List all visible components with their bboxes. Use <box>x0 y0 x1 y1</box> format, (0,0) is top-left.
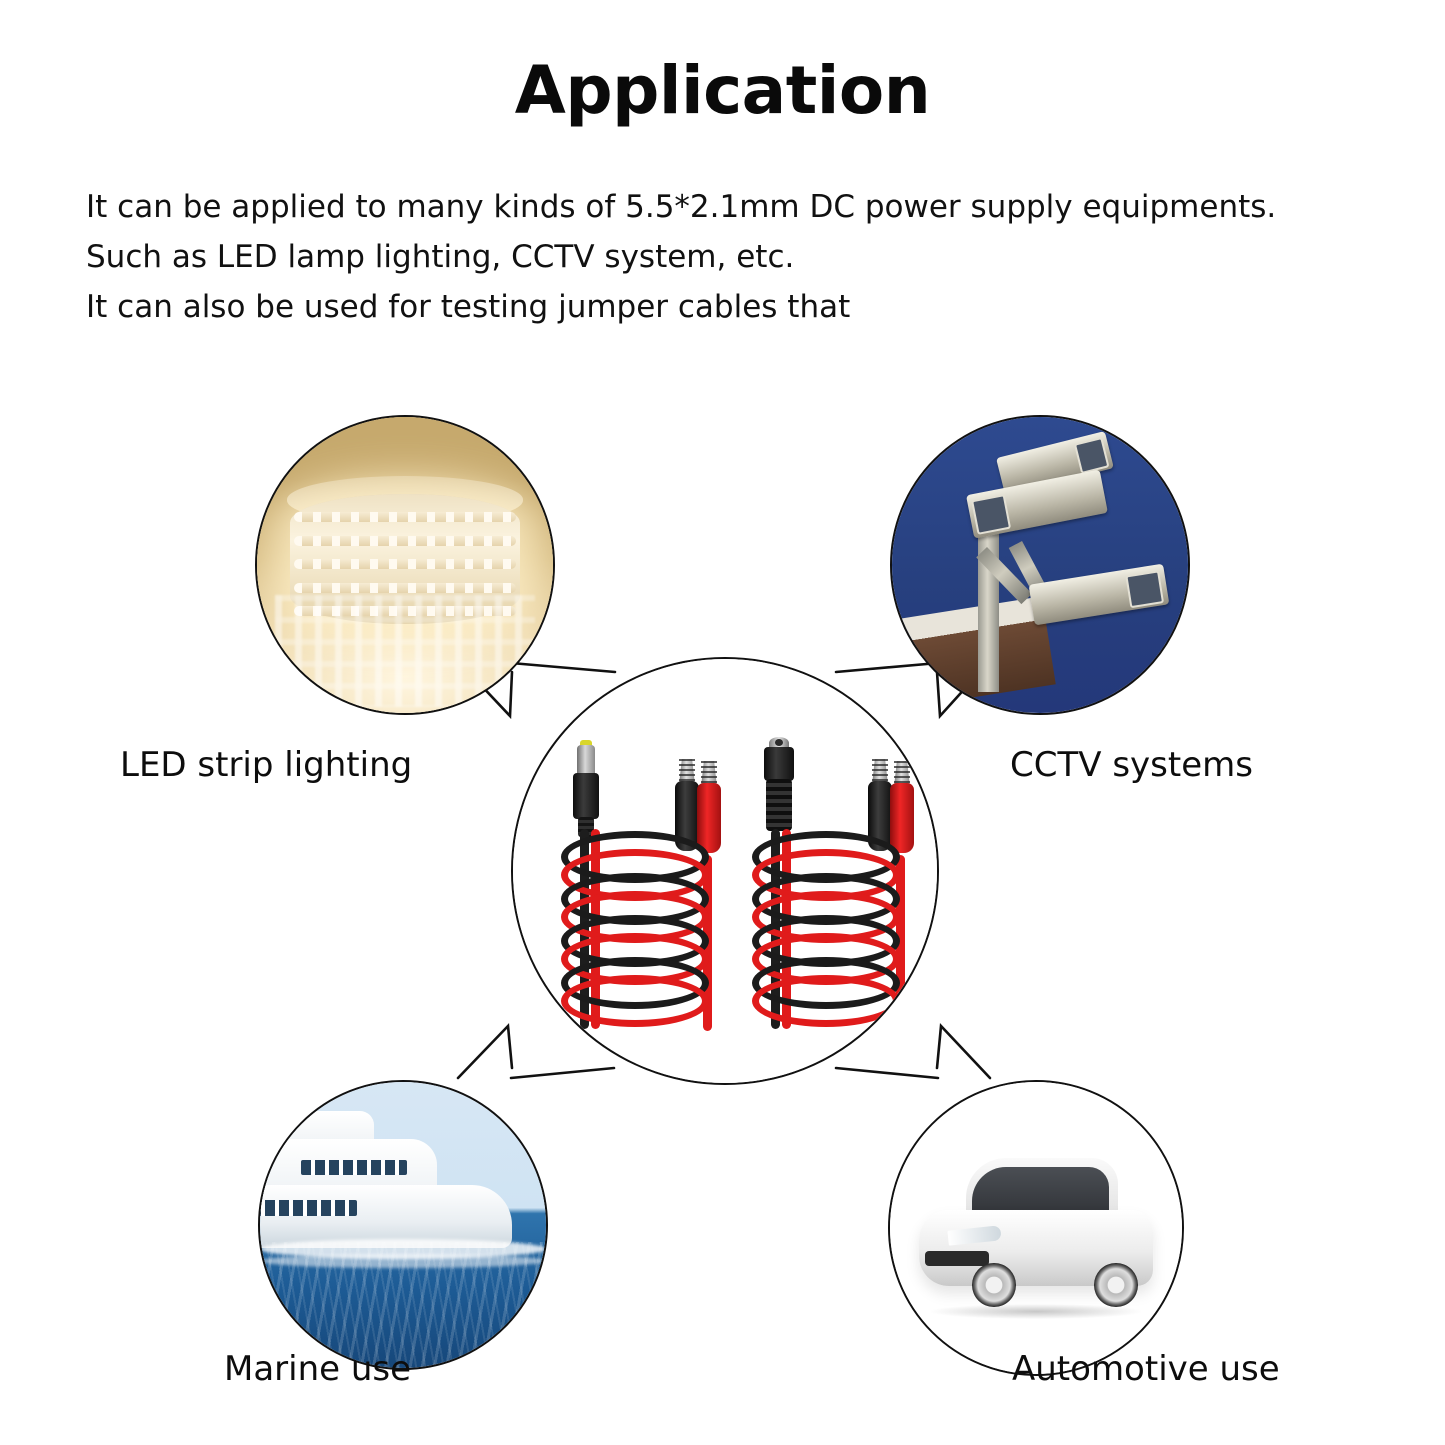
yacht-portholes <box>258 1200 357 1216</box>
cable-assembly-female <box>728 659 918 1085</box>
dc-jack-strain-relief <box>766 779 792 831</box>
car-windshield <box>972 1167 1109 1214</box>
cctv-camera-lower <box>1029 563 1170 625</box>
product-photo <box>513 659 937 1083</box>
yacht-image <box>260 1082 546 1368</box>
clip-teeth <box>679 759 695 781</box>
application-diagram: LED strip lighting CCTV systems <box>0 0 1445 1445</box>
connector-line-marine-elbow <box>458 1026 512 1078</box>
label-marine-use: Marine use <box>224 1352 411 1386</box>
dc-jack-hole <box>775 739 783 746</box>
led-row <box>294 583 516 593</box>
label-automotive-use: Automotive use <box>1012 1352 1280 1386</box>
dc-male-plug-icon <box>573 745 599 831</box>
connector-line-automotive-elbow <box>937 1026 990 1078</box>
node-marine-use[interactable] <box>258 1080 548 1370</box>
coil-loop <box>561 975 709 1027</box>
dc-jack-body <box>764 747 794 781</box>
label-cctv-systems: CCTV systems <box>1010 748 1253 782</box>
node-product-center[interactable] <box>511 657 939 1085</box>
coil-loop <box>752 975 900 1027</box>
node-automotive-use[interactable] <box>888 1080 1184 1376</box>
application-infographic: Application It can be applied to many ki… <box>0 0 1445 1445</box>
wire-coil <box>561 831 709 1019</box>
cctv-lens <box>1074 437 1109 474</box>
cable-assembly-male <box>531 659 721 1085</box>
dc-plug-body <box>573 773 599 819</box>
led-glow <box>275 595 535 707</box>
clip-teeth <box>701 761 717 783</box>
clip-teeth <box>894 761 910 783</box>
car-image <box>890 1082 1182 1374</box>
wire-coil <box>752 831 900 1019</box>
clip-teeth <box>872 759 888 781</box>
led-row <box>294 512 516 522</box>
yacht-windows <box>301 1160 407 1175</box>
car-rear-wheel <box>1094 1263 1138 1307</box>
car-front-wheel <box>972 1263 1016 1307</box>
led-row <box>294 536 516 546</box>
cctv-lens <box>971 494 1011 535</box>
label-led-strip-lighting: LED strip lighting <box>120 748 412 782</box>
led-row <box>294 559 516 569</box>
node-led-strip-lighting[interactable] <box>255 415 555 715</box>
cctv-lens <box>1125 570 1164 608</box>
dc-female-jack-icon <box>764 737 794 837</box>
dc-plug-barrel <box>577 745 595 775</box>
car-front-intake <box>925 1251 989 1266</box>
led-strip-image <box>257 417 553 713</box>
